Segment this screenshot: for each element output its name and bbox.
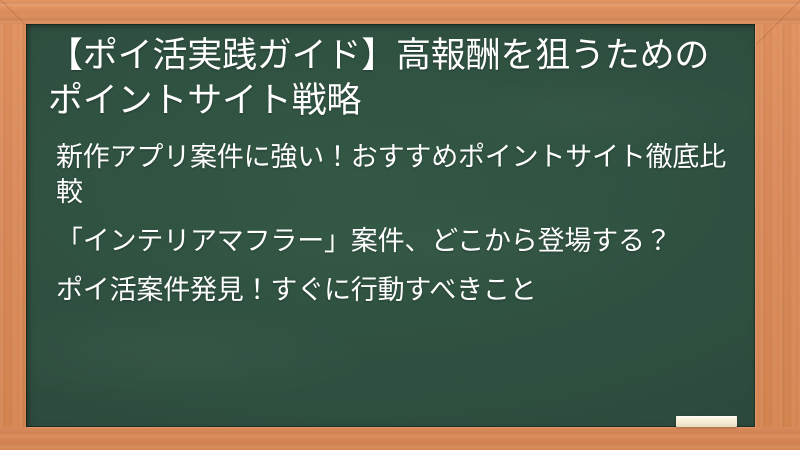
blackboard-content: 【ポイ活実践ガイド】高報酬を狙うためのポイントサイト戦略 新作アプリ案件に強い！… — [26, 24, 755, 427]
list-item: 「インテリアマフラー」案件、どこから登場する？ — [56, 224, 728, 259]
page-title: 【ポイ活実践ガイド】高報酬を狙うためのポイントサイト戦略 — [48, 34, 737, 124]
chalk-eraser-icon — [676, 416, 737, 427]
list-item: ポイ活案件発見！すぐに行動すべきこと — [56, 273, 728, 308]
wooden-frame-bottom-rail — [0, 427, 800, 450]
blackboard-slide: 【ポイ活実践ガイド】高報酬を狙うためのポイントサイト戦略 新作アプリ案件に強い！… — [0, 0, 800, 450]
wooden-frame-top-rail — [0, 0, 800, 24]
list-item: 新作アプリ案件に強い！おすすめポイントサイト徹底比較 — [56, 140, 728, 210]
topic-list: 新作アプリ案件に強い！おすすめポイントサイト徹底比較 「インテリアマフラー」案件… — [48, 140, 737, 308]
blackboard-surface: 【ポイ活実践ガイド】高報酬を狙うためのポイントサイト戦略 新作アプリ案件に強い！… — [26, 24, 755, 427]
